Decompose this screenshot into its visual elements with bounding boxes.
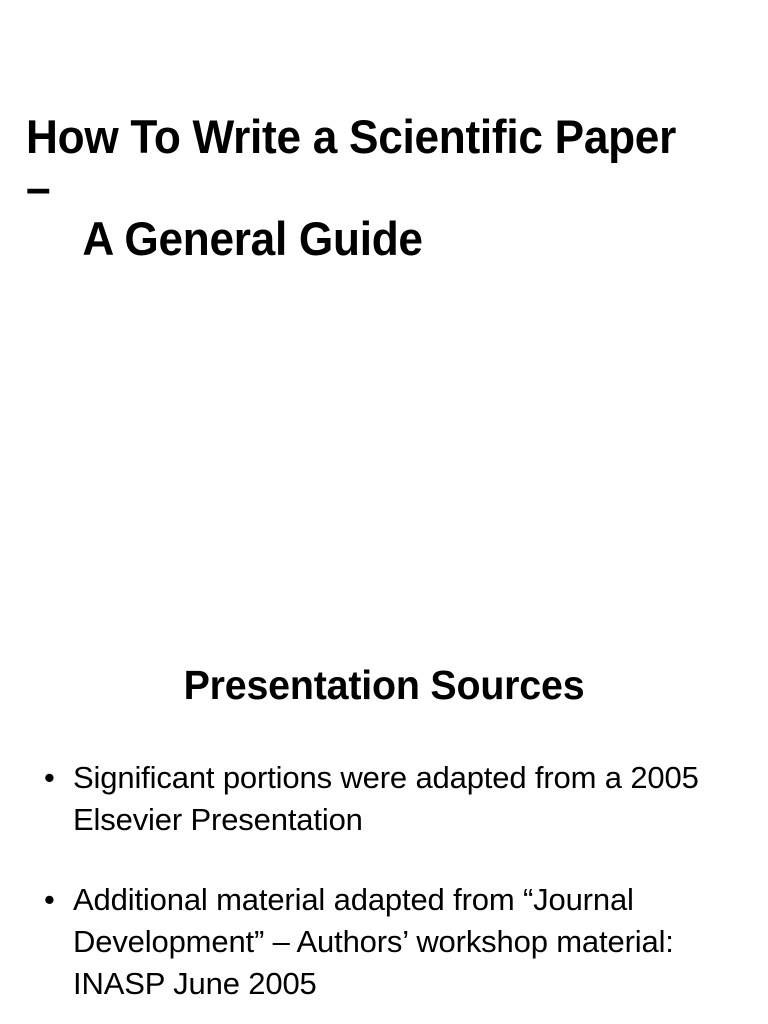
list-item-text: Additional material adapted from “Journa… <box>73 879 702 1005</box>
bullet-point-icon: • <box>44 757 64 799</box>
slide-title-line-1: How To Write a Scientific Paper – <box>26 110 676 214</box>
presentation-sources-list: • Significant portions were adapted from… <box>0 757 768 1005</box>
presentation-slide: How To Write a Scientific Paper –A Gener… <box>0 0 768 1024</box>
list-item: • Significant portions were adapted from… <box>0 757 768 841</box>
slide-title-line-2: A General Guide <box>26 213 684 264</box>
section-heading-presentation-sources: Presentation Sources <box>15 661 752 709</box>
bullet-point-icon: • <box>44 879 64 921</box>
list-item-text: Significant portions were adapted from a… <box>73 757 702 841</box>
list-item: • Additional material adapted from “Jour… <box>0 879 768 1005</box>
slide-title: How To Write a Scientific Paper –A Gener… <box>26 111 684 264</box>
